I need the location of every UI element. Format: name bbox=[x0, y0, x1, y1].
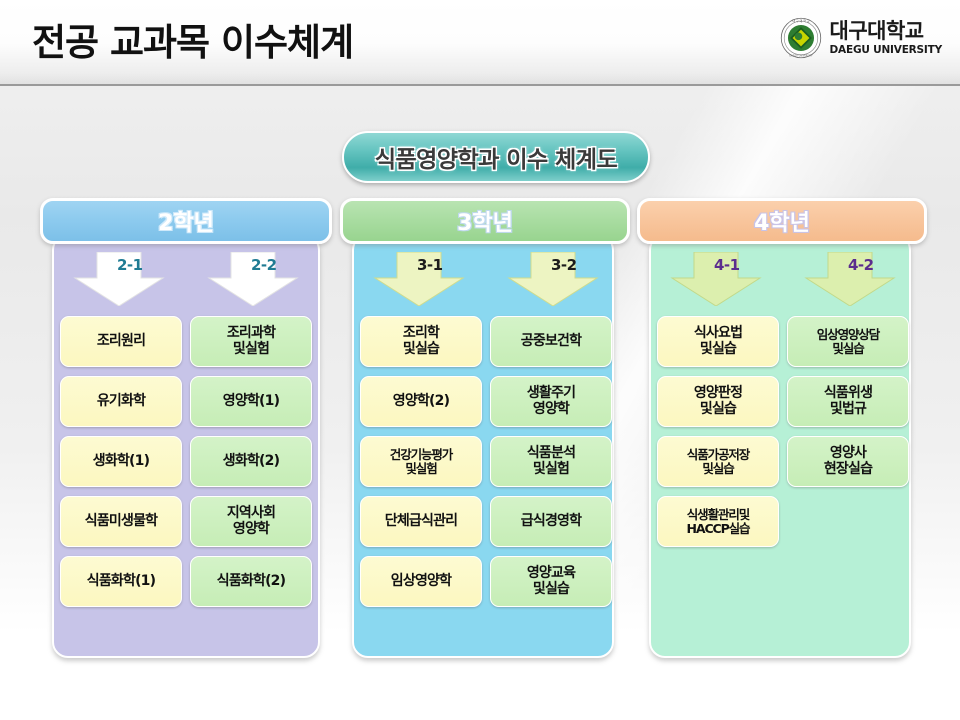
year-4-semester-1-courses: 식사요법및실습영양판정및실습식품가공저장및실습식생활관리및HACCP실습 bbox=[657, 316, 779, 547]
chart-title-pill: 식품영양학과 이수 체계도 bbox=[342, 131, 650, 183]
course-box[interactable]: 임상영양학 bbox=[360, 556, 482, 607]
year-4-arrow-row: 4-1 4-2 bbox=[649, 250, 917, 310]
year-2-arrow-row: 2-1 2-2 bbox=[52, 250, 320, 310]
course-box[interactable]: 식품가공저장및실습 bbox=[657, 436, 779, 487]
course-box[interactable]: 조리원리 bbox=[60, 316, 182, 367]
course-box[interactable]: 식품위생및법규 bbox=[787, 376, 909, 427]
year-4-semester-2-arrow: 4-2 bbox=[783, 250, 917, 310]
year-3-semester-1-arrow: 3-1 bbox=[352, 250, 486, 310]
svg-text:대 구 대 학 교: 대 구 대 학 교 bbox=[792, 18, 809, 23]
year-2-semester-2-arrow: 2-2 bbox=[186, 250, 320, 310]
daegu-university-emblem-icon: 대 구 대 학 교 DAEGU UNIVERSITY bbox=[780, 17, 822, 59]
svg-text:DAEGU UNIVERSITY: DAEGU UNIVERSITY bbox=[789, 54, 813, 57]
course-box[interactable]: 생활주기영양학 bbox=[490, 376, 612, 427]
course-box[interactable]: 식품화학(2) bbox=[190, 556, 312, 607]
year-3-header[interactable]: 3학년 bbox=[340, 198, 630, 244]
course-box[interactable]: 지역사회영양학 bbox=[190, 496, 312, 547]
year-3-semester-2-label: 3-2 bbox=[551, 256, 577, 274]
year-3-semester-1-label: 3-1 bbox=[417, 256, 443, 274]
course-box[interactable]: 영양판정및실습 bbox=[657, 376, 779, 427]
course-box[interactable]: 영양학(2) bbox=[360, 376, 482, 427]
page-title: 전공 교과목 이수체계 bbox=[32, 12, 353, 66]
chart-title-text: 식품영양학과 이수 체계도 bbox=[375, 140, 617, 174]
year-column-3: 3학년 3-1 3-2 조리학및실습영양학(2)건강기능평가및실험단체급식관리임… bbox=[340, 198, 630, 244]
year-column-4: 4학년 4-1 4-2 식사요법및실습영양판정및실습식품가공저장및실습식생활관리… bbox=[637, 198, 927, 244]
year-3-course-grid: 조리학및실습영양학(2)건강기능평가및실험단체급식관리임상영양학 공중보건학생활… bbox=[352, 316, 620, 607]
course-box[interactable]: 영양학(1) bbox=[190, 376, 312, 427]
course-box[interactable]: 조리과학및실험 bbox=[190, 316, 312, 367]
course-box[interactable]: 생화학(1) bbox=[60, 436, 182, 487]
year-4-header[interactable]: 4학년 bbox=[637, 198, 927, 244]
course-box[interactable]: 식사요법및실습 bbox=[657, 316, 779, 367]
year-3-label: 3학년 bbox=[457, 205, 513, 237]
year-3-arrow-row: 3-1 3-2 bbox=[352, 250, 620, 310]
year-3-semester-2-arrow: 3-2 bbox=[486, 250, 620, 310]
year-2-semester-1-courses: 조리원리유기화학생화학(1)식품미생물학식품화학(1) bbox=[60, 316, 182, 607]
course-box[interactable]: 식생활관리및HACCP실습 bbox=[657, 496, 779, 547]
course-box[interactable]: 단체급식관리 bbox=[360, 496, 482, 547]
year-2-semester-1-arrow: 2-1 bbox=[52, 250, 186, 310]
course-box[interactable]: 영양사현장실습 bbox=[787, 436, 909, 487]
year-4-semester-1-arrow: 4-1 bbox=[649, 250, 783, 310]
logo-wordmark: 대구대학교 DAEGU UNIVERSITY bbox=[830, 21, 942, 56]
course-box[interactable]: 임상영양상담및실습 bbox=[787, 316, 909, 367]
course-box[interactable]: 식품화학(1) bbox=[60, 556, 182, 607]
course-box[interactable]: 영양교육및실습 bbox=[490, 556, 612, 607]
year-2-label: 2학년 bbox=[158, 205, 214, 237]
year-2-semester-2-courses: 조리과학및실험영양학(1)생화학(2)지역사회영양학식품화학(2) bbox=[190, 316, 312, 607]
year-4-label: 4학년 bbox=[754, 205, 810, 237]
course-box[interactable]: 건강기능평가및실험 bbox=[360, 436, 482, 487]
year-4-semester-1-label: 4-1 bbox=[714, 256, 740, 274]
university-logo: 대 구 대 학 교 DAEGU UNIVERSITY 대구대학교 DAEGU U… bbox=[780, 17, 942, 59]
course-box[interactable]: 급식경영학 bbox=[490, 496, 612, 547]
year-4-course-grid: 식사요법및실습영양판정및실습식품가공저장및실습식생활관리및HACCP실습 임상영… bbox=[649, 316, 917, 547]
year-2-semester-1-label: 2-1 bbox=[117, 256, 143, 274]
year-2-semester-2-label: 2-2 bbox=[251, 256, 277, 274]
course-box[interactable]: 식품분석및실험 bbox=[490, 436, 612, 487]
year-2-course-grid: 조리원리유기화학생화학(1)식품미생물학식품화학(1) 조리과학및실험영양학(1… bbox=[52, 316, 320, 607]
year-3-semester-1-courses: 조리학및실습영양학(2)건강기능평가및실험단체급식관리임상영양학 bbox=[360, 316, 482, 607]
course-box[interactable]: 조리학및실습 bbox=[360, 316, 482, 367]
page-header: 전공 교과목 이수체계 대 구 대 학 교 DAEGU UNIVERSITY 대… bbox=[0, 0, 960, 86]
year-4-semester-2-courses: 임상영양상담및실습식품위생및법규영양사현장실습 bbox=[787, 316, 909, 547]
course-box[interactable]: 식품미생물학 bbox=[60, 496, 182, 547]
logo-name-ko: 대구대학교 bbox=[830, 21, 942, 42]
course-box[interactable]: 유기화학 bbox=[60, 376, 182, 427]
logo-name-en: DAEGU UNIVERSITY bbox=[830, 45, 942, 56]
course-box[interactable]: 공중보건학 bbox=[490, 316, 612, 367]
course-box[interactable]: 생화학(2) bbox=[190, 436, 312, 487]
year-3-semester-2-courses: 공중보건학생활주기영양학식품분석및실험급식경영학영양교육및실습 bbox=[490, 316, 612, 607]
year-4-semester-2-label: 4-2 bbox=[848, 256, 874, 274]
slide-canvas: 전공 교과목 이수체계 대 구 대 학 교 DAEGU UNIVERSITY 대… bbox=[0, 0, 960, 720]
year-column-2: 2학년 2-1 2-2 조리원리유기화학생화학(1)식품미생물학식품화학(1) … bbox=[40, 198, 332, 244]
year-2-header[interactable]: 2학년 bbox=[40, 198, 332, 244]
